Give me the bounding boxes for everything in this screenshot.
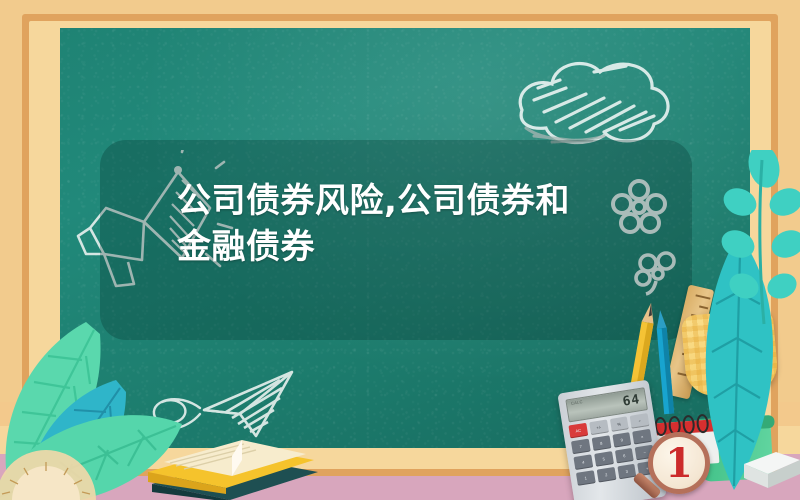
calc-key-label: +/- — [589, 420, 609, 436]
banner-image: 公司债券风险,公司债券和 金融债券 — [0, 0, 800, 500]
calc-key-label: 6 — [614, 448, 634, 464]
protractor — [0, 442, 98, 500]
calc-key-2: 2 — [596, 467, 616, 483]
calc-key-9: 9 — [612, 432, 632, 448]
calc-key-label: AC — [568, 423, 588, 439]
calc-key-label: 5 — [594, 451, 614, 467]
calc-key-label: 9 — [612, 432, 632, 448]
calc-key-1: 1 — [576, 470, 596, 486]
white-book — [742, 446, 800, 500]
cloud-scribble-icon — [508, 44, 678, 154]
calc-key-7: 7 — [571, 439, 591, 455]
calc-key-6: 6 — [614, 448, 634, 464]
calc-key-div: ÷ — [630, 413, 650, 429]
calc-key-pct: % — [609, 416, 629, 432]
book-stack — [142, 432, 322, 500]
calc-key-4: 4 — [573, 454, 593, 470]
calc-key-label: 4 — [573, 454, 593, 470]
calc-key-label: 2 — [596, 467, 616, 483]
calculator-brand: CALC — [571, 399, 584, 406]
calc-key-label: 7 — [571, 439, 591, 455]
calc-key-sign: +/- — [589, 420, 609, 436]
page-title: 公司债券风险,公司债券和 金融债券 — [177, 178, 647, 270]
calc-key-label: 8 — [591, 435, 611, 451]
calc-key-ac: AC — [568, 423, 588, 439]
calc-key-label: 1 — [576, 470, 596, 486]
calc-key-5: 5 — [594, 451, 614, 467]
calc-key-label: ÷ — [630, 413, 650, 429]
headline-line-1: 公司债券风险,公司债券和 — [177, 178, 647, 224]
calc-key-8: 8 — [591, 435, 611, 451]
leaf-mint-right — [718, 150, 800, 335]
headline-line-2: 金融债券 — [177, 224, 647, 270]
calc-key-label: % — [609, 416, 629, 432]
calculator-display: 64 — [622, 392, 642, 410]
